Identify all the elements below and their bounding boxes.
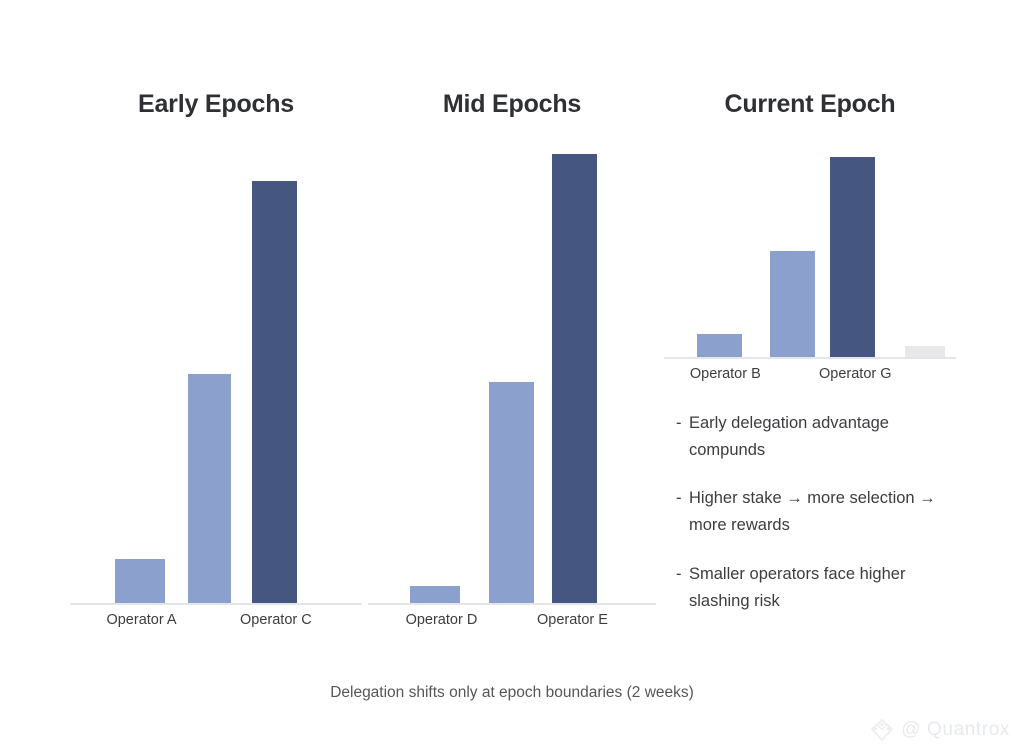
tick-label-early-epochs-0: Operator A [106, 612, 176, 628]
list-item: - Smaller operators face higher slashing… [676, 561, 966, 614]
x-axis-line [70, 603, 362, 605]
tick-label-mid-epochs-0: Operator D [406, 612, 478, 628]
bullet-dash: - [676, 561, 689, 588]
plot-area-mid-epochs [368, 148, 656, 605]
chart-title-current-epoch: Current Epoch [664, 90, 956, 119]
bar-mid-epochs-1 [489, 382, 534, 603]
tick-row-mid-epochs: Operator DOperator E [368, 612, 656, 632]
bullet-dash: - [676, 410, 689, 437]
tick-label-early-epochs-1: Operator C [240, 612, 312, 628]
bar-current-epoch-0 [697, 334, 742, 357]
x-axis-line [368, 603, 656, 605]
chart-panel-early-epochs: Early Epochs Operator AOperator C [70, 90, 362, 635]
diamond-logo-icon [869, 718, 895, 742]
chart-title-early-epochs: Early Epochs [70, 90, 362, 119]
bar-current-epoch-2 [830, 157, 875, 357]
list-item: - Higher stake → more selection → more r… [676, 485, 966, 538]
bar-mid-epochs-2 [552, 154, 597, 603]
bar-mid-epochs-0 [410, 586, 460, 603]
bar-current-epoch-3 [905, 346, 945, 357]
plot-area-early-epochs [70, 148, 362, 605]
bar-early-epochs-1 [188, 374, 231, 603]
bar-early-epochs-0 [115, 559, 165, 604]
list-item: - Early delegation advantage compunds [676, 410, 966, 463]
tick-label-current-epoch-1: Operator G [819, 366, 892, 382]
list-item-text: Early delegation advantage compunds [689, 410, 966, 463]
plot-area-current-epoch [664, 148, 956, 359]
list-item-text: Smaller operators face higher slashing r… [689, 561, 966, 614]
bar-current-epoch-1 [770, 251, 815, 357]
x-axis-line [664, 357, 956, 359]
chart-title-mid-epochs: Mid Epochs [368, 90, 656, 119]
list-item-text: Higher stake → more selection → more rew… [689, 485, 966, 538]
tick-row-current-epoch: Operator BOperator G [664, 366, 956, 386]
chart-panel-current-epoch: Current Epoch Operator BOperator G [664, 90, 956, 390]
watermark: @ Quantrox [869, 718, 1010, 742]
bar-early-epochs-2 [252, 181, 297, 603]
tick-row-early-epochs: Operator AOperator C [70, 612, 362, 632]
slide-canvas: Early Epochs Operator AOperator C Mid Ep… [0, 0, 1024, 752]
footer-caption: Delegation shifts only at epoch boundari… [0, 684, 1024, 702]
chart-panel-mid-epochs: Mid Epochs Operator DOperator E [368, 90, 656, 635]
tick-label-mid-epochs-1: Operator E [537, 612, 608, 628]
insights-list: - Early delegation advantage compunds - … [676, 410, 966, 614]
tick-label-current-epoch-0: Operator B [690, 366, 761, 382]
bullet-dash: - [676, 485, 689, 512]
watermark-handle: @ Quantrox [901, 719, 1010, 741]
